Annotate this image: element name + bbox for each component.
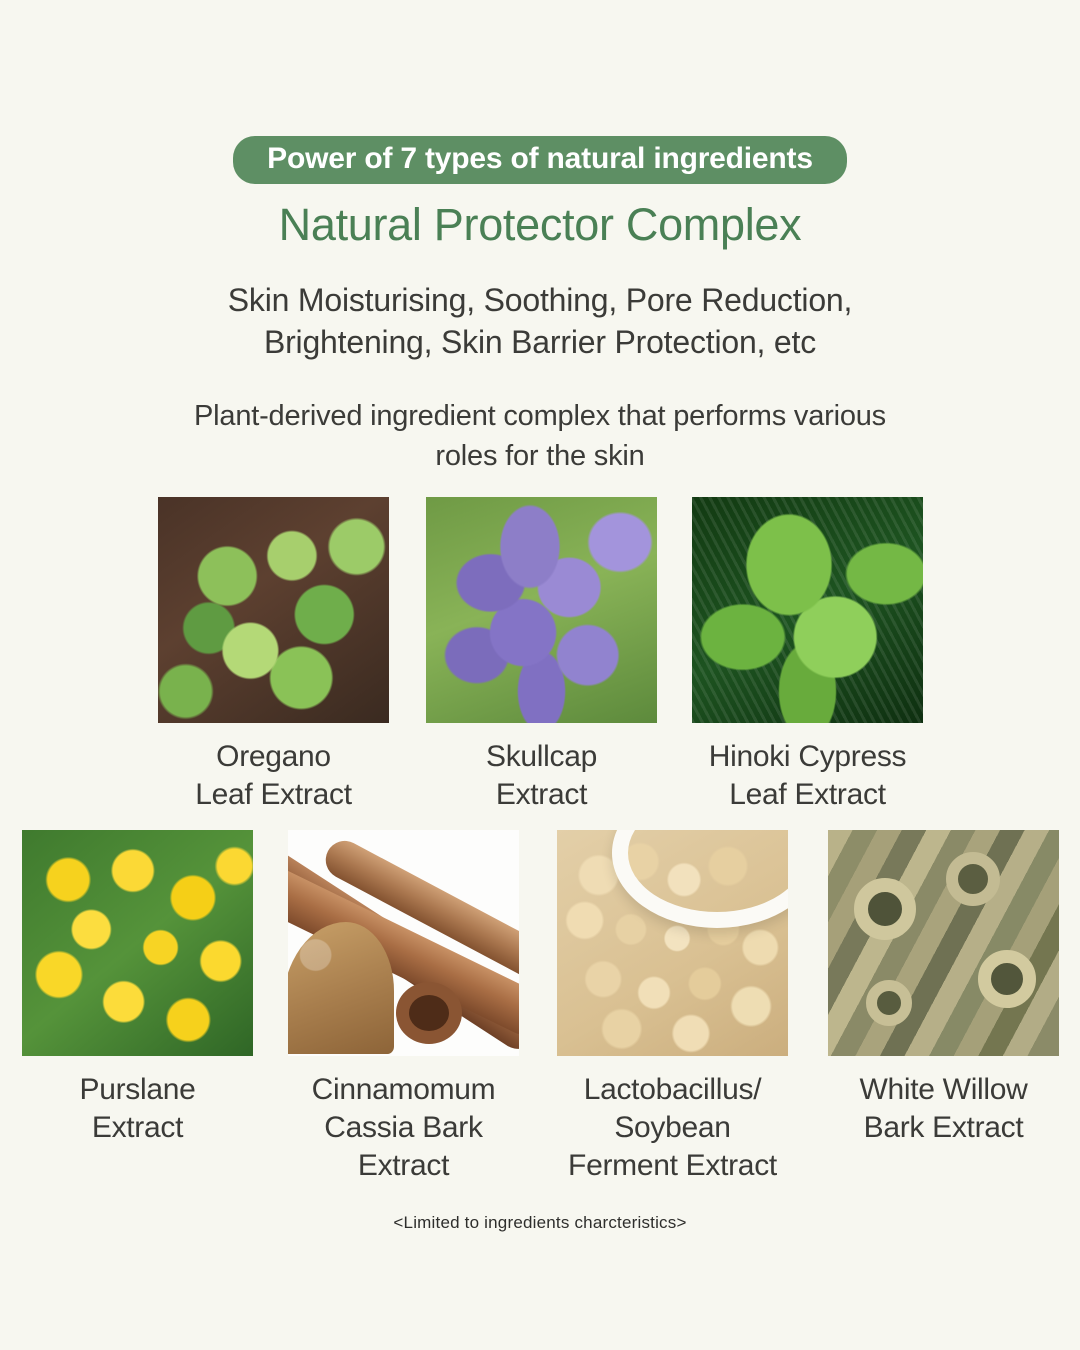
ingredient-card-oregano: Oregano Leaf Extract — [158, 497, 389, 814]
ingredient-label: Skullcap Extract — [426, 738, 657, 814]
ingredient-card-lactobacillus: Lactobacillus/ Soybean Ferment Extract — [557, 830, 788, 1185]
description-text: Plant-derived ingredient complex that pe… — [0, 396, 1080, 476]
cinnamon-curl — [396, 982, 462, 1044]
bowl-rim — [612, 830, 788, 928]
purslane-flower-image — [22, 830, 253, 1056]
hinoki-cypress-image — [692, 497, 923, 723]
oregano-leaf-image — [158, 497, 389, 723]
skullcap-flower-image — [426, 497, 657, 723]
badge-container: Power of 7 types of natural ingredients — [0, 136, 1080, 184]
bark-roll — [854, 878, 916, 940]
bark-roll — [866, 980, 912, 1026]
ingredient-label: Purslane Extract — [22, 1071, 253, 1147]
cinnamon-stick-image — [288, 830, 519, 1056]
ingredient-label: Oregano Leaf Extract — [158, 738, 389, 814]
power-of-7-badge: Power of 7 types of natural ingredients — [233, 136, 847, 184]
benefits-subtitle: Skin Moisturising, Soothing, Pore Reduct… — [0, 279, 1080, 363]
ingredient-card-cinnamomum: Cinnamomum Cassia Bark Extract — [288, 830, 519, 1185]
footnote-disclaimer: <Limited to ingredients charcteristics> — [0, 1213, 1080, 1233]
bark-roll — [946, 852, 1000, 906]
ingredient-card-skullcap: Skullcap Extract — [426, 497, 657, 814]
ingredient-label: Lactobacillus/ Soybean Ferment Extract — [557, 1071, 788, 1185]
soybean-image — [557, 830, 788, 1056]
white-willow-bark-image — [828, 830, 1059, 1056]
ingredient-card-purslane: Purslane Extract — [22, 830, 253, 1147]
ingredient-infographic-page: Power of 7 types of natural ingredients … — [0, 0, 1080, 1350]
cinnamon-powder — [288, 922, 394, 1054]
ingredient-card-white-willow: White Willow Bark Extract — [828, 830, 1059, 1147]
ingredient-label: White Willow Bark Extract — [828, 1071, 1059, 1147]
bark-roll — [978, 950, 1036, 1008]
ingredient-label: Hinoki Cypress Leaf Extract — [692, 738, 923, 814]
ingredient-label: Cinnamomum Cassia Bark Extract — [288, 1071, 519, 1185]
page-title: Natural Protector Complex — [0, 200, 1080, 250]
ingredient-card-hinoki: Hinoki Cypress Leaf Extract — [692, 497, 923, 814]
